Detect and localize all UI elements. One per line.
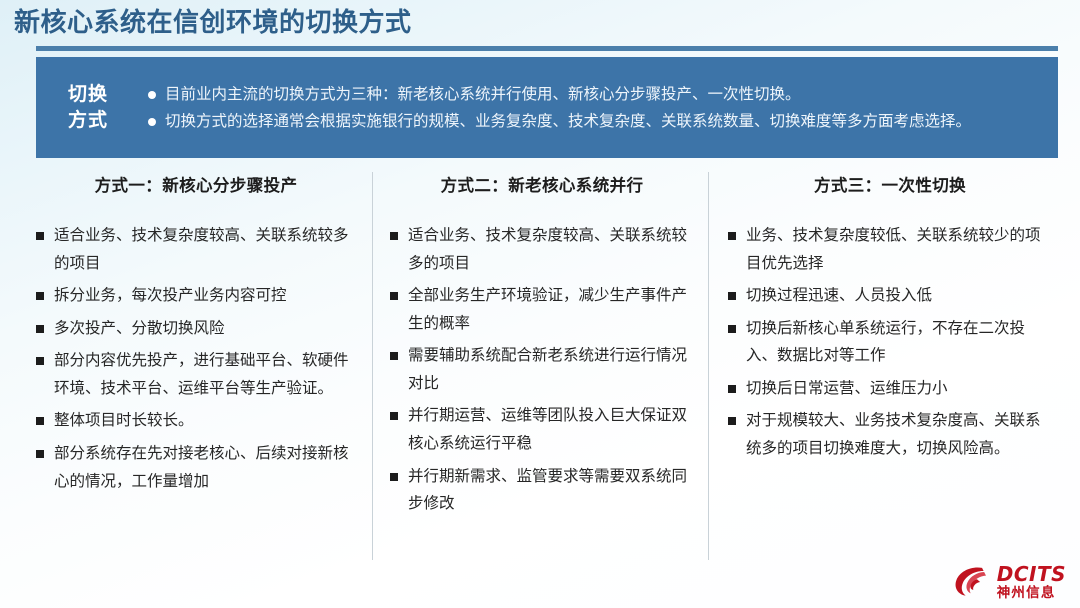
bullet-square-icon — [728, 232, 736, 240]
list-item: 对于规模较大、业务技术复杂度高、关联系统多的项目切换难度大，切换风险高。 — [728, 407, 1052, 462]
page-title: 新核心系统在信创环境的切换方式 — [14, 7, 412, 40]
bullet-square-icon — [390, 232, 398, 240]
list-item: 部分内容优先投产，进行基础平台、软硬件环境、技术平台、运维平台等生产验证。 — [36, 347, 356, 402]
bullet-square-icon — [36, 450, 44, 458]
callout-item-text: 切换方式的选择通常会根据实施银行的规模、业务复杂度、技术复杂度、关联系统数量、切… — [165, 109, 1042, 134]
list-item-text: 部分系统存在先对接老核心、后续对接新核心的情况，工作量增加 — [54, 440, 356, 495]
logo-english-name: DCITS — [997, 564, 1066, 584]
list-item: 整体项目时长较长。 — [36, 407, 356, 435]
list-item: 全部业务生产环境验证，减少生产事件产生的概率 — [390, 282, 694, 337]
switching-methods-callout: 切换 方式 目前业内主流的切换方式为三种：新老核心系统并行使用、新核心分步骤投产… — [36, 57, 1058, 158]
column-bullet-list: 适合业务、技术复杂度较高、关联系统较多的项目 全部业务生产环境验证，减少生产事件… — [390, 222, 694, 523]
callout-label: 切换 方式 — [36, 57, 140, 158]
callout-item-text: 目前业内主流的切换方式为三种：新老核心系统并行使用、新核心分步骤投产、一次性切换… — [165, 82, 1042, 107]
list-item-text: 适合业务、技术复杂度较高、关联系统较多的项目 — [54, 222, 356, 277]
method-column-1: 方式一：新核心分步骤投产 适合业务、技术复杂度较高、关联系统较多的项目 拆分业务… — [18, 172, 372, 560]
title-divider-rule — [36, 46, 1058, 51]
bullet-square-icon — [390, 473, 398, 481]
method-column-2: 方式二：新老核心系统并行 适合业务、技术复杂度较高、关联系统较多的项目 全部业务… — [372, 172, 708, 560]
logo-chinese-name: 神州信息 — [997, 587, 1066, 601]
list-item: 切换过程迅速、人员投入低 — [728, 282, 1052, 310]
list-item-text: 切换后新核心单系统运行，不存在二次投入、数据比对等工作 — [746, 315, 1052, 370]
bullet-square-icon — [36, 325, 44, 333]
list-item: 部分系统存在先对接老核心、后续对接新核心的情况，工作量增加 — [36, 440, 356, 495]
list-item: 并行期新需求、监管要求等需要双系统同步修改 — [390, 463, 694, 518]
bullet-square-icon — [728, 385, 736, 393]
list-item-text: 多次投产、分散切换风险 — [54, 315, 356, 343]
list-item-text: 业务、技术复杂度较低、关联系统较少的项目优先选择 — [746, 222, 1052, 277]
bullet-square-icon — [36, 357, 44, 365]
bullet-square-icon — [728, 417, 736, 425]
column-heading: 方式二：新老核心系统并行 — [390, 172, 694, 196]
methods-columns: 方式一：新核心分步骤投产 适合业务、技术复杂度较高、关联系统较多的项目 拆分业务… — [18, 172, 1062, 560]
callout-label-line-2: 方式 — [68, 108, 108, 133]
list-item: 切换后日常运营、运维压力小 — [728, 375, 1052, 403]
list-item-text: 需要辅助系统配合新老系统进行运行情况对比 — [408, 342, 694, 397]
bullet-square-icon — [728, 325, 736, 333]
bullet-square-icon — [390, 352, 398, 360]
list-item-text: 并行期运营、运维等团队投入巨大保证双核心系统运行平稳 — [408, 402, 694, 457]
company-logo: DCITS 神州信息 — [953, 564, 1066, 601]
callout-label-line-1: 切换 — [68, 82, 108, 107]
bullet-dot-icon — [148, 91, 156, 99]
column-bullet-list: 适合业务、技术复杂度较高、关联系统较多的项目 拆分业务，每次投产业务内容可控 多… — [36, 222, 356, 500]
list-item: 业务、技术复杂度较低、关联系统较少的项目优先选择 — [728, 222, 1052, 277]
list-item-text: 全部业务生产环境验证，减少生产事件产生的概率 — [408, 282, 694, 337]
callout-body: 目前业内主流的切换方式为三种：新老核心系统并行使用、新核心分步骤投产、一次性切换… — [140, 57, 1058, 158]
list-item-text: 部分内容优先投产，进行基础平台、软硬件环境、技术平台、运维平台等生产验证。 — [54, 347, 356, 402]
list-item: 拆分业务，每次投产业务内容可控 — [36, 282, 356, 310]
callout-list-item: 目前业内主流的切换方式为三种：新老核心系统并行使用、新核心分步骤投产、一次性切换… — [148, 82, 1042, 107]
column-bullet-list: 业务、技术复杂度较低、关联系统较少的项目优先选择 切换过程迅速、人员投入低 切换… — [728, 222, 1052, 468]
logo-wordmark: DCITS 神州信息 — [997, 564, 1066, 601]
list-item: 适合业务、技术复杂度较高、关联系统较多的项目 — [36, 222, 356, 277]
list-item: 多次投产、分散切换风险 — [36, 315, 356, 343]
bullet-square-icon — [36, 417, 44, 425]
bullet-square-icon — [36, 292, 44, 300]
list-item-text: 切换后日常运营、运维压力小 — [746, 375, 1052, 403]
list-item: 切换后新核心单系统运行，不存在二次投入、数据比对等工作 — [728, 315, 1052, 370]
bullet-square-icon — [390, 412, 398, 420]
list-item: 需要辅助系统配合新老系统进行运行情况对比 — [390, 342, 694, 397]
list-item-text: 切换过程迅速、人员投入低 — [746, 282, 1052, 310]
list-item-text: 并行期新需求、监管要求等需要双系统同步修改 — [408, 463, 694, 518]
bullet-dot-icon — [148, 118, 156, 126]
dcits-swirl-icon — [953, 565, 990, 598]
list-item-text: 适合业务、技术复杂度较高、关联系统较多的项目 — [408, 222, 694, 277]
column-heading: 方式一：新核心分步骤投产 — [36, 172, 356, 196]
callout-list-item: 切换方式的选择通常会根据实施银行的规模、业务复杂度、技术复杂度、关联系统数量、切… — [148, 109, 1042, 134]
column-heading: 方式三：一次性切换 — [728, 172, 1052, 196]
list-item: 并行期运营、运维等团队投入巨大保证双核心系统运行平稳 — [390, 402, 694, 457]
list-item-text: 拆分业务，每次投产业务内容可控 — [54, 282, 356, 310]
bullet-square-icon — [390, 292, 398, 300]
list-item-text: 对于规模较大、业务技术复杂度高、关联系统多的项目切换难度大，切换风险高。 — [746, 407, 1052, 462]
list-item-text: 整体项目时长较长。 — [54, 407, 356, 435]
bullet-square-icon — [36, 232, 44, 240]
list-item: 适合业务、技术复杂度较高、关联系统较多的项目 — [390, 222, 694, 277]
method-column-3: 方式三：一次性切换 业务、技术复杂度较低、关联系统较少的项目优先选择 切换过程迅… — [708, 172, 1062, 560]
bullet-square-icon — [728, 292, 736, 300]
